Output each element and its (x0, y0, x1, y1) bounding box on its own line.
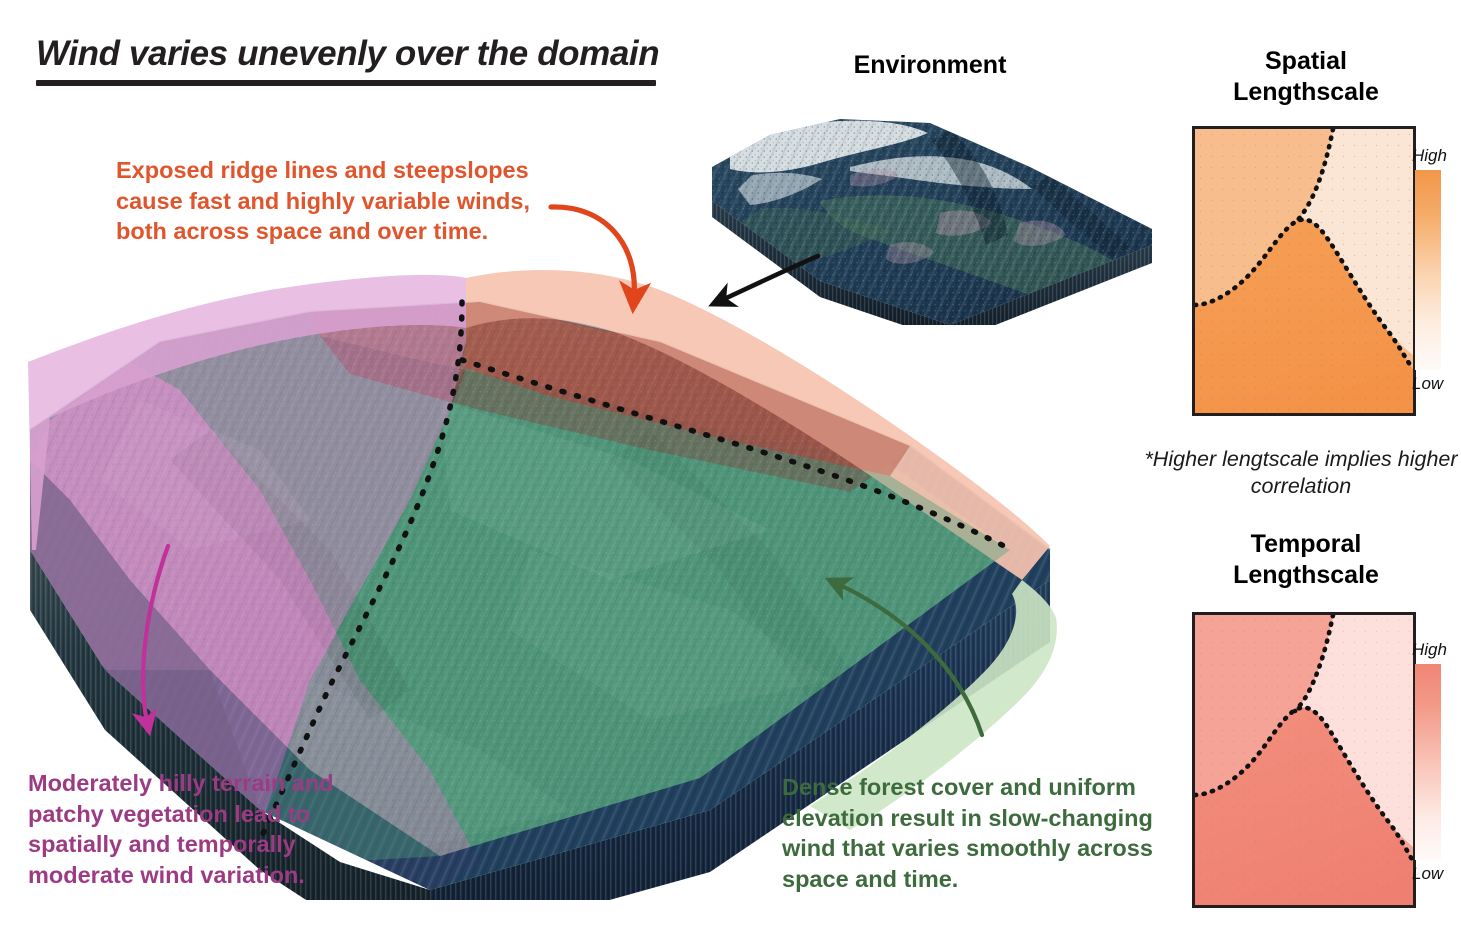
temporal-lengthscale-map (1192, 612, 1416, 908)
env-snow-patch-a (730, 121, 928, 173)
curved-arrow-green (838, 584, 982, 735)
spatial-lengthscale-map (1192, 126, 1416, 416)
spatial-colorbar-low-label: Low (1412, 374, 1461, 394)
temporal-lengthscale-heading: Temporal Lengthscale (1186, 529, 1426, 590)
boundary-hilly-forest (258, 302, 462, 844)
spatial-colorbar-gradient (1415, 170, 1441, 370)
spatial-colorbar: High Low (1412, 146, 1461, 406)
ridge-surface-patch-lower (320, 336, 890, 492)
spatial-heading-line2: Lengthscale (1186, 77, 1426, 108)
title-block: Wind varies unevenly over the domain (36, 36, 676, 86)
spatial-heading-line1: Spatial (1186, 46, 1426, 77)
lengthscale-note: *Higher lengtscale implies higher correl… (1142, 446, 1460, 499)
title-underline-rule (36, 80, 656, 86)
temporal-heading-line1: Temporal (1186, 529, 1426, 560)
annotation-hilly-text: Moderately hilly terrain and patchy vege… (28, 768, 378, 890)
annotation-ridge-text: Exposed ridge lines and steepslopes caus… (116, 155, 556, 247)
straight-arrow-black (722, 256, 818, 300)
env-snow-patch-c (738, 173, 822, 205)
zone-boundary-dotted-lines (258, 302, 1012, 844)
environment-heading: Environment (790, 50, 1070, 81)
temporal-colorbar: High Low (1412, 640, 1461, 890)
temporal-heading-line2: Lengthscale (1186, 560, 1426, 591)
annotation-forest-text: Dense forest cover and uniform elevation… (782, 772, 1182, 894)
spatial-colorbar-high-label: High (1412, 146, 1461, 166)
ridge-surface-patch (310, 302, 910, 464)
overlay-zone-ridge (466, 302, 910, 476)
env-front-side-face (950, 245, 1152, 325)
spatial-lengthscale-heading: Spatial Lengthscale (1186, 46, 1426, 107)
env-left-side-face (712, 201, 950, 325)
overlay-halo-hilly (28, 275, 466, 550)
curved-arrow-magenta (143, 546, 168, 722)
env-top-surface (700, 105, 1190, 325)
env-left-side-texture (712, 201, 950, 325)
overlay-zone-hilly (30, 302, 466, 842)
terrain-top-rim (30, 302, 1050, 550)
overlay-halo-ridge (466, 270, 1050, 580)
terrain-left-edge-band (30, 460, 260, 810)
environment-terrain-block (700, 105, 1190, 325)
env-snow-patch-b (850, 156, 1032, 189)
temporal-colorbar-gradient (1415, 664, 1441, 860)
page-title: Wind varies unevenly over the domain (36, 36, 676, 73)
boundary-ridge-forest (462, 360, 1012, 550)
curved-arrow-orange (551, 207, 634, 296)
temporal-colorbar-low-label: Low (1412, 864, 1461, 884)
env-front-side-texture (950, 245, 1152, 325)
temporal-colorbar-high-label: High (1412, 640, 1461, 660)
